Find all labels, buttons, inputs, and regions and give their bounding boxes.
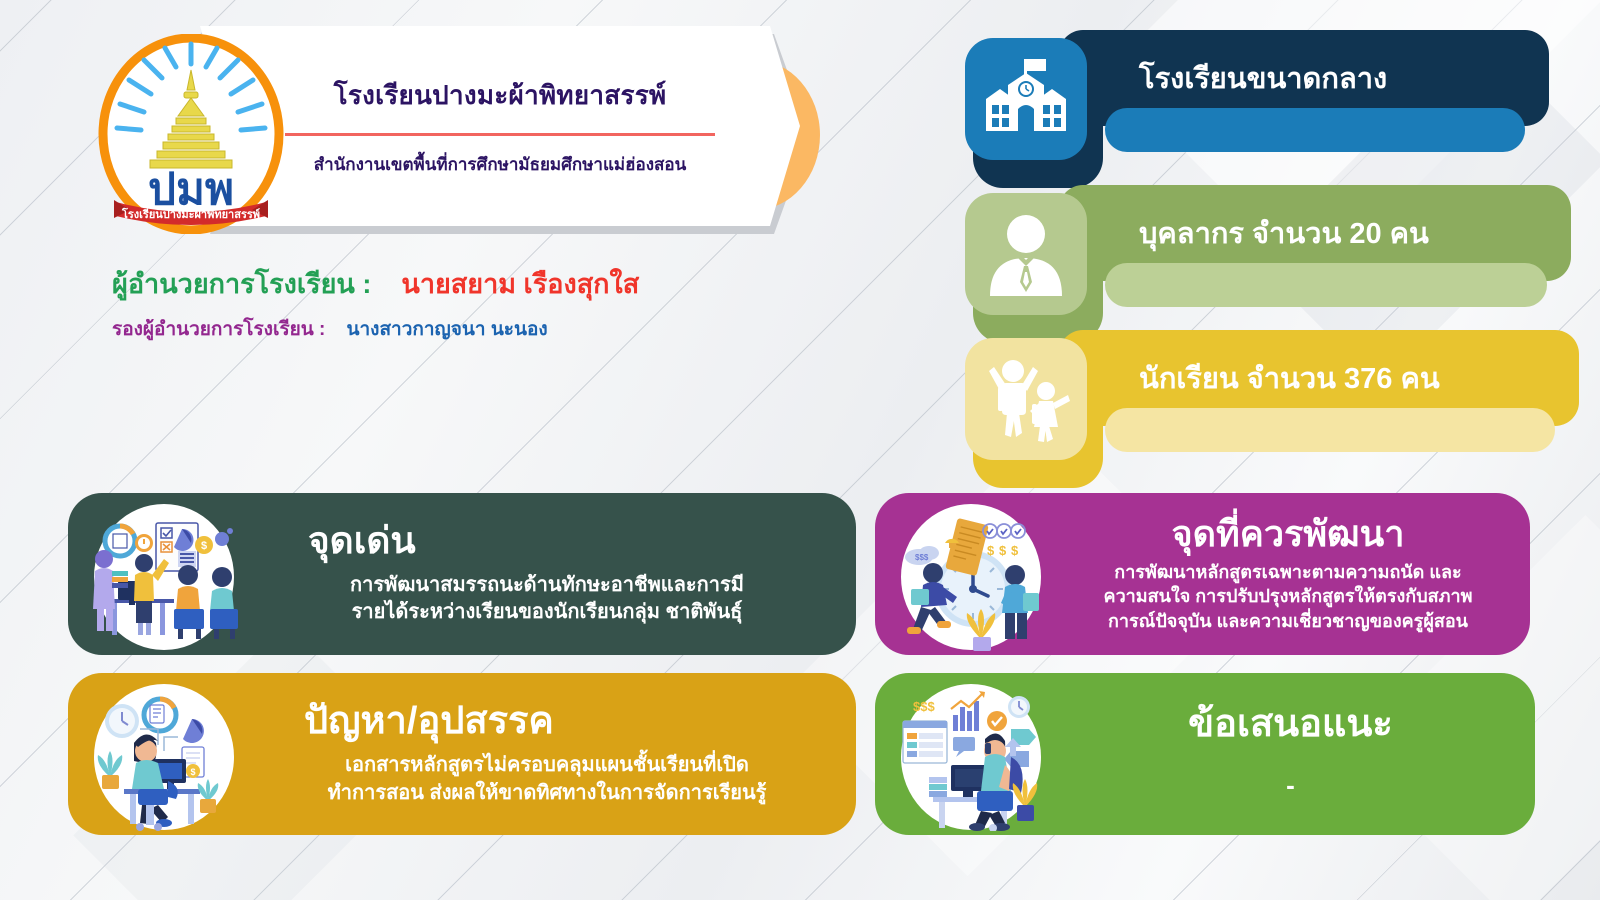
office-man-phone-illustration: $$$ [889, 681, 1049, 831]
stat-card-staff: บุคลากร จำนวน 20 คน [955, 185, 1555, 350]
stat-inner-bar [1105, 263, 1547, 307]
feature-desc: การพัฒนาสมรรถนะด้านทักษะอาชีพและการมี รา… [258, 572, 836, 627]
stat-inner-bar [1105, 408, 1555, 452]
feature-card-problems: $ [68, 673, 856, 835]
office-name: สำนักงานเขตพื้นที่การศึกษามัธยมศึกษาแม่ฮ… [314, 151, 686, 178]
stat-label: บุคลากร จำนวน 20 คน [1139, 210, 1429, 256]
feature-text-group: ปัญหา/อุปสรรค เอกสารหลักสูตรไม่ครอบคลุมแ… [258, 673, 836, 835]
school-building-icon [978, 51, 1074, 147]
stat-label: นักเรียน จำนวน 376 คน [1139, 355, 1440, 401]
stat-label: โรงเรียนขนาดกลาง [1139, 55, 1387, 101]
banner-text-group: โรงเรียนปางมะผ้าพิทยาสรรพ์ สำนักงานเขตพื… [240, 26, 760, 226]
title-divider [285, 133, 715, 136]
feature-text-group: ข้อเสนอแนะ - [1060, 673, 1521, 835]
stat-card-students: นักเรียน จำนวน 376 คน [955, 330, 1555, 495]
svg-text:$: $ [999, 543, 1007, 558]
time-management-illustration: $$$ $$$ [889, 501, 1049, 651]
vice-director-label: รองผู้อำนวยการโรงเรียน : [112, 319, 325, 340]
svg-text:$$$: $$$ [915, 553, 929, 562]
workspace-woman-illustration: $ [82, 681, 242, 831]
feature-card-suggestions: $$$ [875, 673, 1535, 835]
students-jumping-icon [976, 349, 1076, 449]
director-label: ผู้อำนวยการโรงเรียน : [112, 269, 371, 299]
svg-text:โรงเรียนปางมะผ้าพิทยาสรรพ์: โรงเรียนปางมะผ้าพิทยาสรรพ์ [121, 207, 260, 221]
svg-text:ปมพ: ปมพ [148, 165, 234, 214]
director-name: นายสยาม เรืองสุกใส [401, 269, 639, 299]
svg-text:$$$: $$$ [913, 699, 935, 714]
stat-icon-tile [965, 193, 1087, 315]
feature-title: จุดเด่น [308, 521, 416, 562]
vice-director-name: นางสาวกาญจนา นะนอง [347, 319, 548, 340]
feature-desc: การพัฒนาหลักสูตรเฉพาะตามความถนัด และ ควา… [1104, 560, 1473, 634]
feature-card-strengths: $ [68, 493, 856, 655]
team-meeting-illustration: $ [82, 501, 242, 651]
svg-text:$: $ [201, 540, 207, 552]
svg-text:$: $ [190, 767, 195, 777]
school-name: โรงเรียนปางมะผ้าพิทยาสรรพ์ [334, 75, 667, 116]
leadership-block: ผู้อำนวยการโรงเรียน : นายสยาม เรืองสุกใส… [112, 268, 639, 342]
svg-text:$: $ [1011, 543, 1019, 558]
staff-person-icon [980, 208, 1072, 300]
director-row: ผู้อำนวยการโรงเรียน : นายสยาม เรืองสุกใส [112, 268, 639, 302]
feature-desc: เอกสารหลักสูตรไม่ครอบคลุมแผนชั้นเรียนที่… [258, 752, 836, 807]
svg-text:$: $ [987, 543, 995, 558]
stat-icon-tile [965, 38, 1087, 160]
stat-icon-tile [965, 338, 1087, 460]
feature-card-improvements: $$$ $$$ [875, 493, 1530, 655]
feature-text-group: จุดเด่น การพัฒนาสมรรถนะด้านทักษะอาชีพและ… [258, 493, 836, 655]
feature-title: จุดที่ควรพัฒนา [1172, 514, 1405, 554]
feature-desc: - [1286, 768, 1295, 804]
feature-title: ปัญหา/อุปสรรค [304, 701, 554, 743]
feature-title: ข้อเสนอแนะ [1188, 704, 1393, 746]
stat-card-school-size: โรงเรียนขนาดกลาง [955, 30, 1555, 195]
feature-text-group: จุดที่ควรพัฒนา การพัฒนาหลักสูตรเฉพาะตามค… [1060, 493, 1516, 655]
stat-inner-bar [1105, 108, 1525, 152]
vice-director-row: รองผู้อำนวยการโรงเรียน : นางสาวกาญจนา นะ… [112, 318, 639, 342]
school-logo: ปมพ โรงเรียนปางมะผ้าพิทยาสรรพ์ [96, 34, 286, 234]
